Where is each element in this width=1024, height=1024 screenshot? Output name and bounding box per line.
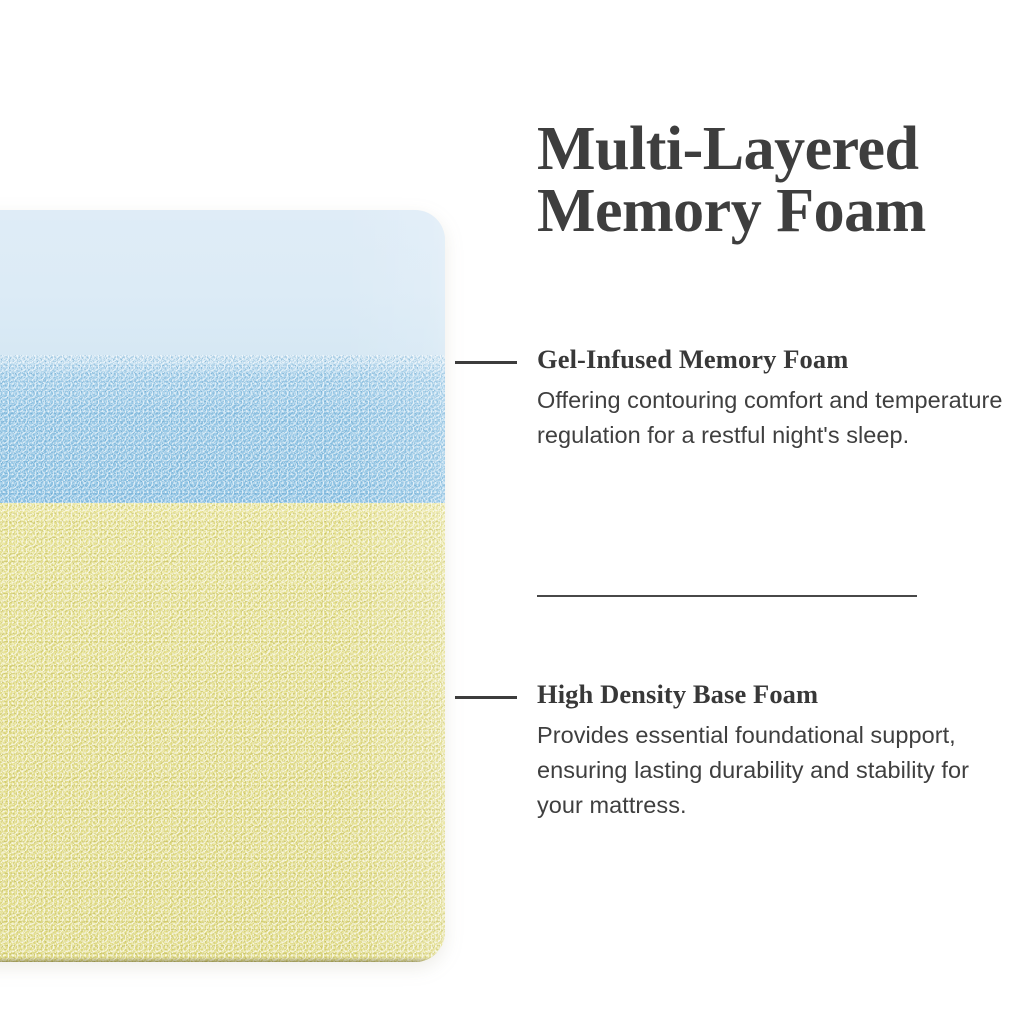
section-divider xyxy=(537,595,917,597)
feature-title: Gel-Infused Memory Foam xyxy=(537,345,1007,374)
content-column: Multi-Layered Memory Foam Gel-Infused Me… xyxy=(537,0,1007,1024)
foam-layer-high-density-base xyxy=(0,503,445,962)
foam-layer-gel-infused xyxy=(0,355,445,505)
leader-dash-icon xyxy=(455,696,517,699)
page-title-line-2: Memory Foam xyxy=(537,180,1007,242)
feature-high-density-base-foam: High Density Base Foam Provides essentia… xyxy=(537,680,1007,822)
foam-texture-blue xyxy=(0,355,445,505)
feature-description: Provides essential foundational support,… xyxy=(537,718,1005,822)
leader-dash-icon xyxy=(455,361,517,364)
infographic-canvas: Multi-Layered Memory Foam Gel-Infused Me… xyxy=(0,0,1024,1024)
feature-gel-infused-memory-foam: Gel-Infused Memory Foam Offering contour… xyxy=(537,345,1007,453)
page-title-line-1: Multi-Layered xyxy=(537,118,1007,180)
page-title: Multi-Layered Memory Foam xyxy=(537,118,1007,242)
foam-layer-gel-top xyxy=(0,210,445,358)
feature-description: Offering contouring comfort and temperat… xyxy=(537,383,1005,453)
foam-texture-yellow xyxy=(0,503,445,962)
feature-title: High Density Base Foam xyxy=(537,680,1007,709)
foam-block-image xyxy=(0,210,445,962)
